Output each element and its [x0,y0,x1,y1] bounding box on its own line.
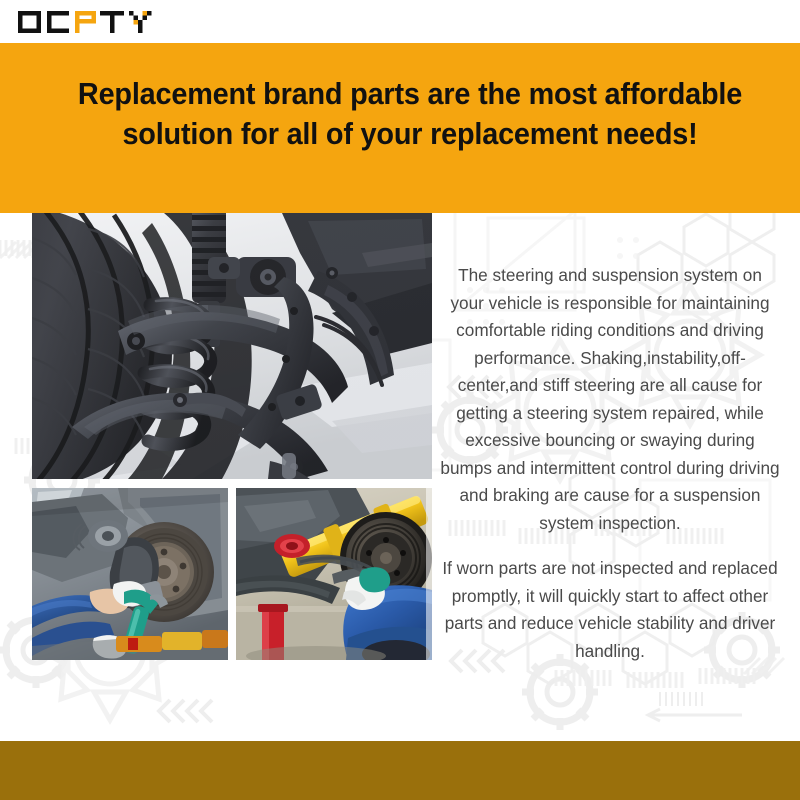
body-copy: The steering and suspension system on yo… [440,262,780,665]
headline-line-2: solution for all of your replacement nee… [66,114,754,154]
body-paragraph-1: The steering and suspension system on yo… [440,262,780,537]
mechanic-brake-service-photo [32,488,228,660]
car-suspension-assembly-photo [32,213,432,479]
footer-band [0,741,800,800]
promotional-poster: Replacement brand parts are the most aff… [0,0,800,800]
ocpty-logo-icon [18,8,168,36]
body-paragraph-2: If worn parts are not inspected and repl… [440,555,780,665]
brand-logo[interactable] [0,0,185,43]
headline: Replacement brand parts are the most aff… [66,74,754,155]
mechanic-lift-inspection-photo [236,488,432,660]
headline-line-1: Replacement brand parts are the most aff… [66,74,754,114]
